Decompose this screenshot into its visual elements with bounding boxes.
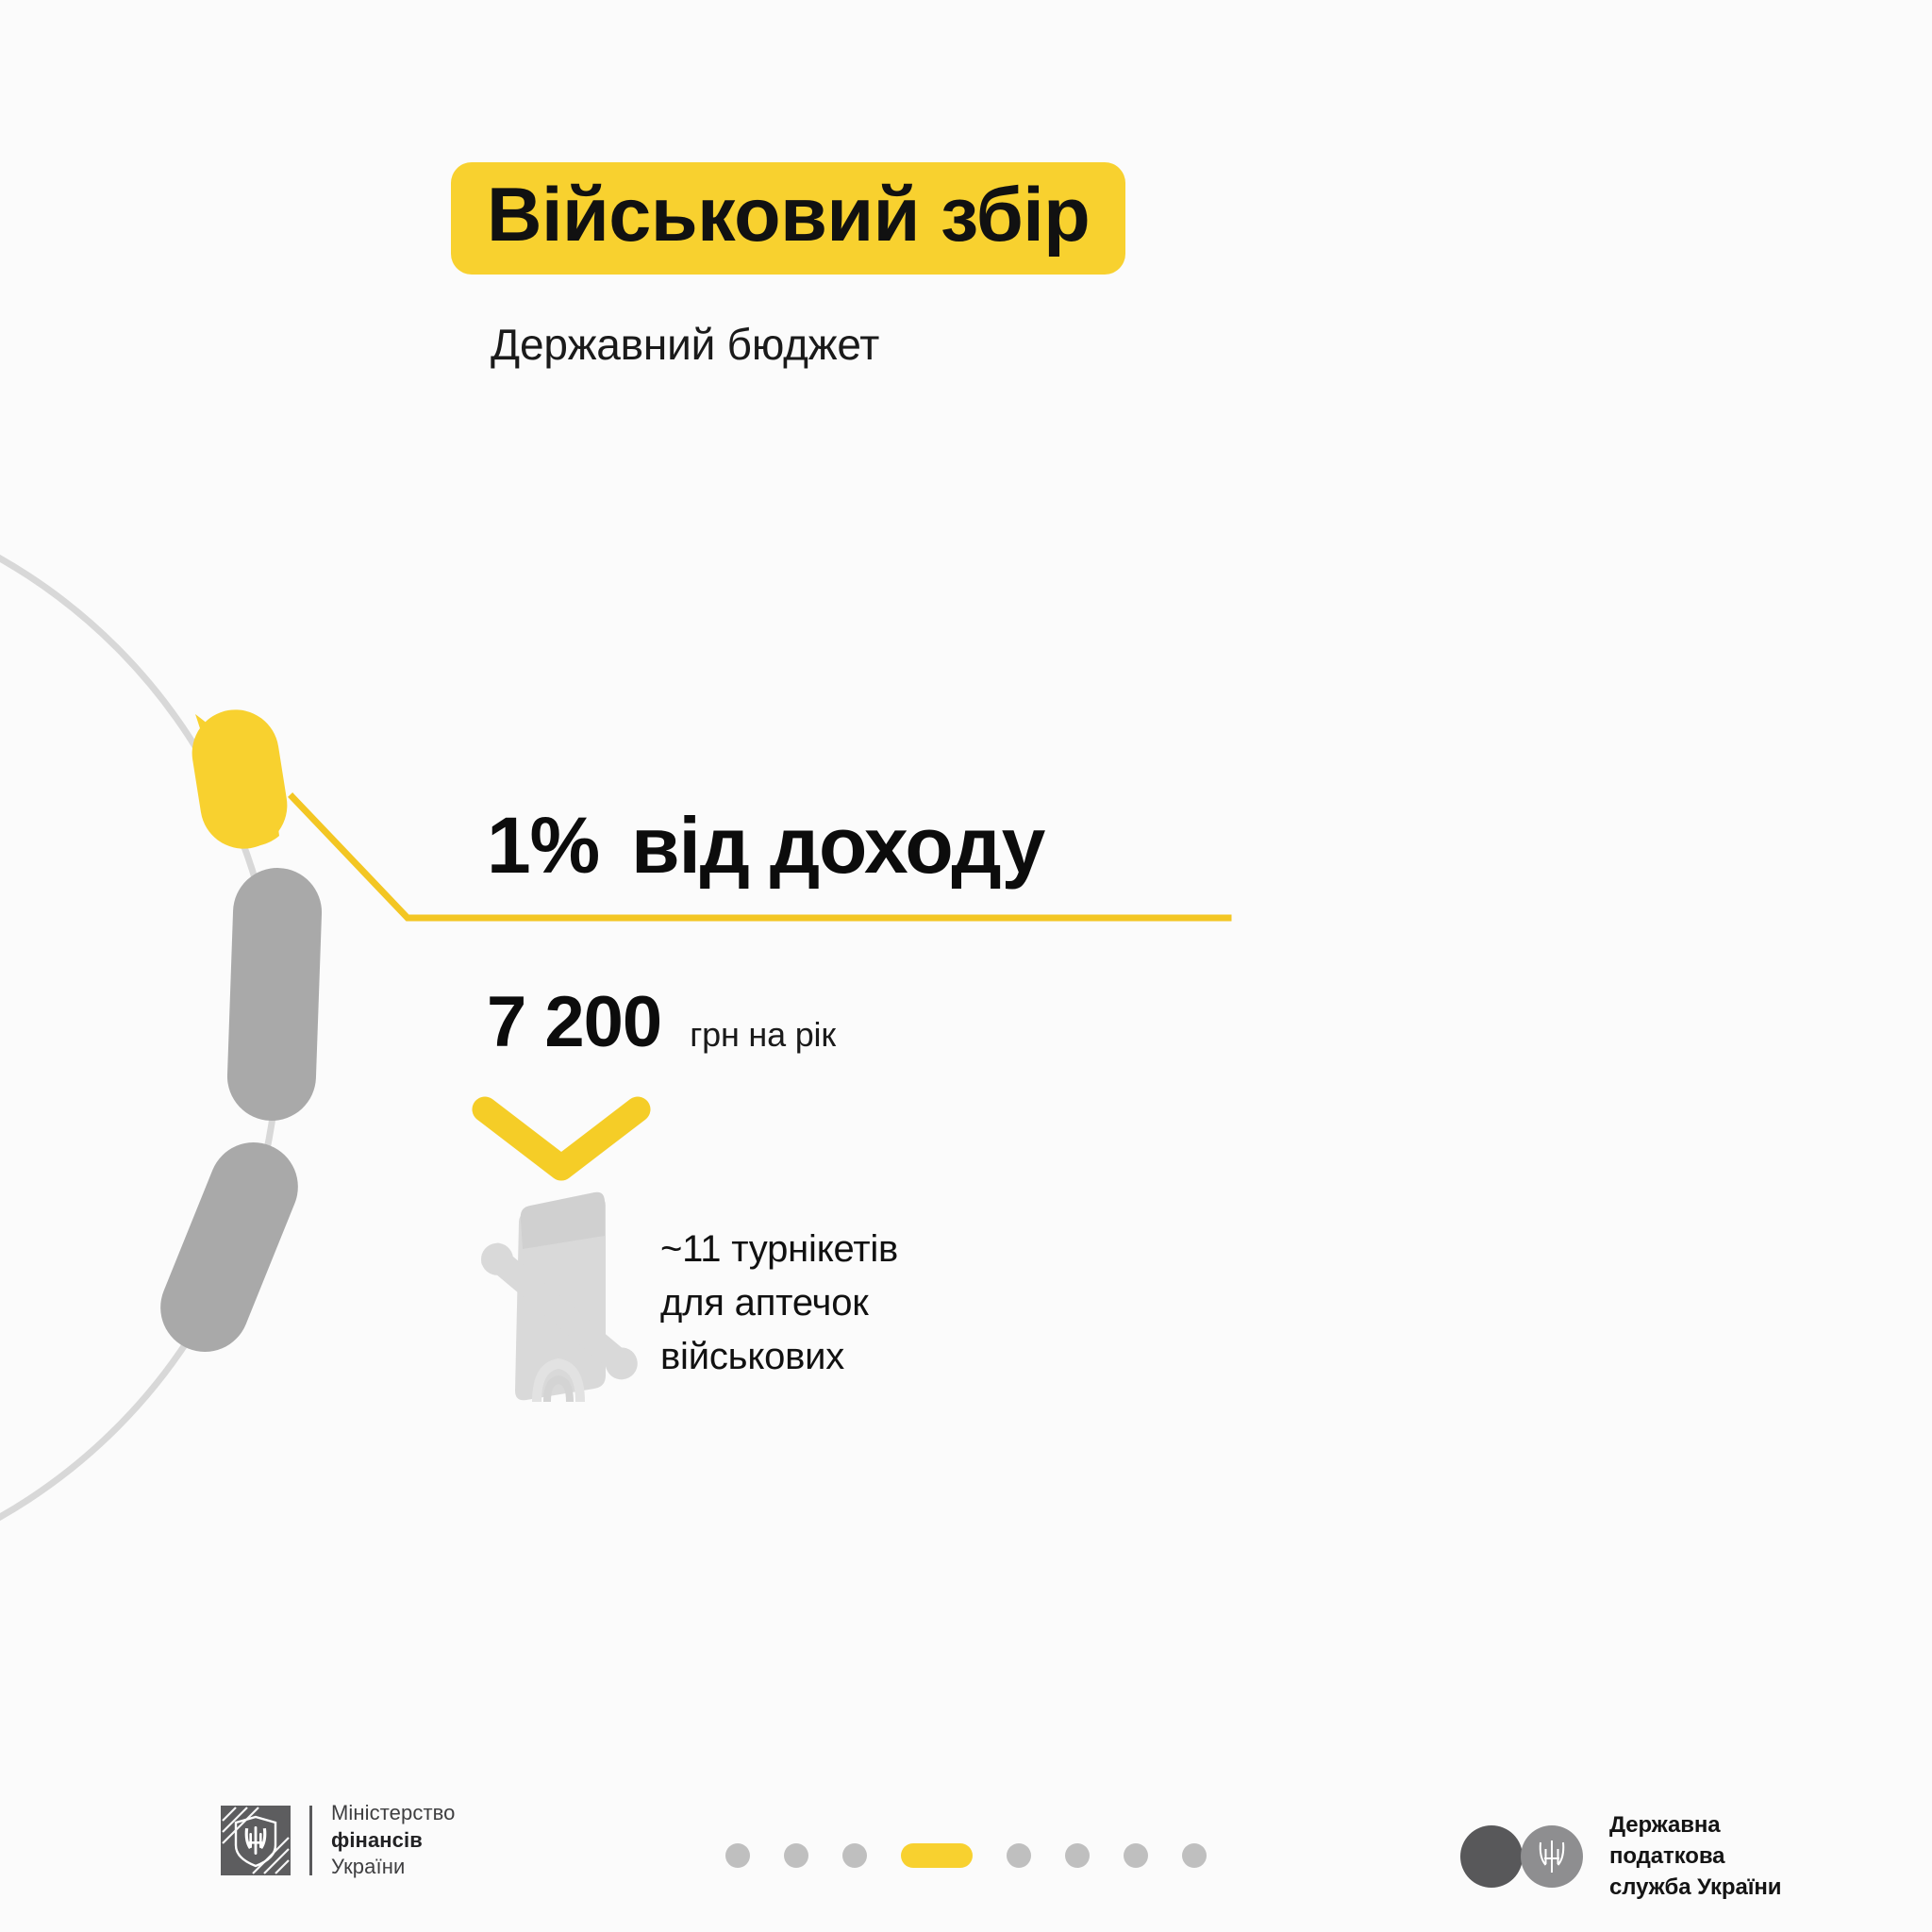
result-caption-line-1: ~11 турнікетів xyxy=(660,1223,898,1276)
arc-circle xyxy=(0,486,278,1590)
chevron-down-icon xyxy=(472,1094,651,1189)
amount-row: 7 200 грн на рік xyxy=(487,981,836,1063)
rate-percent-value: 1% xyxy=(487,800,599,891)
tax-line-3: служба України xyxy=(1609,1872,1781,1903)
pagination-dot[interactable] xyxy=(725,1843,750,1868)
arc-segment-active xyxy=(186,704,293,856)
ministry-of-finance-logo: Міністерство фінансів України xyxy=(221,1800,456,1881)
pagination-dot[interactable] xyxy=(1182,1843,1207,1868)
arc-segment-inactive-1 xyxy=(225,866,323,1122)
pagination-dot[interactable] xyxy=(1124,1843,1148,1868)
infographic-slide: Військовий збір Державний бюджет 1% від … xyxy=(0,0,1932,1932)
rate-headline: 1% від доходу xyxy=(487,800,1044,891)
title-badge: Військовий збір xyxy=(451,162,1125,275)
amount-value: 7 200 xyxy=(487,981,661,1063)
result-caption-line-3: військових xyxy=(660,1330,898,1384)
pagination-dot[interactable] xyxy=(842,1843,867,1868)
tax-line-1: Державна xyxy=(1609,1809,1781,1840)
arc-diagram xyxy=(0,0,1932,1932)
tourniquet-icon xyxy=(464,1177,653,1423)
pagination-dot[interactable] xyxy=(784,1843,808,1868)
pagination-dot-active[interactable] xyxy=(901,1843,973,1868)
page-subtitle: Державний бюджет xyxy=(491,319,879,370)
result-caption-line-2: для аптечок xyxy=(660,1276,898,1330)
page-title: Військовий збір xyxy=(487,177,1090,254)
arc-segment-inactive-2 xyxy=(147,1129,311,1365)
pagination-dot[interactable] xyxy=(1065,1843,1090,1868)
result-caption: ~11 турнікетів для аптечок військових xyxy=(660,1223,898,1383)
pagination-dots[interactable] xyxy=(0,1843,1932,1868)
ministry-logo-text: Міністерство фінансів України xyxy=(331,1800,456,1881)
rate-label: від доходу xyxy=(631,800,1044,891)
pagination-dot[interactable] xyxy=(1007,1843,1031,1868)
ministry-line-1: Міністерство xyxy=(331,1800,456,1827)
amount-unit: грн на рік xyxy=(690,1015,836,1055)
